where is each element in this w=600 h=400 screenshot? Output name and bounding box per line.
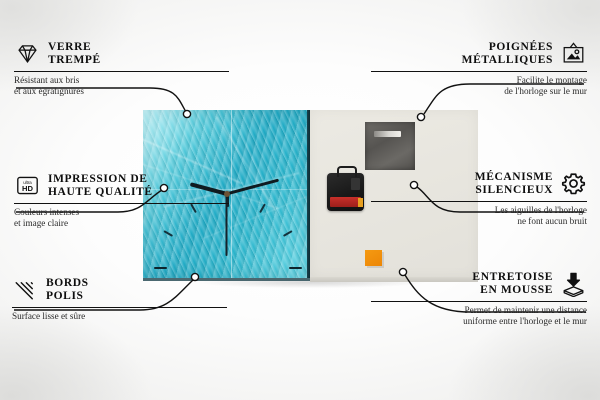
metal-hanger-plate — [365, 122, 415, 170]
feature-description: Facilite le montage de l'horloge sur le … — [371, 75, 587, 97]
feature-divider — [371, 301, 587, 302]
feature-header: VERRE TREMPÉ — [14, 40, 229, 67]
gear-icon — [560, 170, 587, 197]
feature-description: Surface lisse et sûre — [12, 311, 227, 322]
battery — [330, 197, 361, 207]
feature-divider — [371, 71, 587, 72]
feature-title: IMPRESSION DE HAUTE QUALITÉ — [48, 173, 153, 198]
svg-text:HD: HD — [22, 184, 33, 193]
infographic-canvas: VERRE TREMPÉ Résistant aux bris et aux é… — [0, 0, 600, 400]
feature-mecanisme-silencieux: MÉCANISME SILENCIEUX Les aiguilles de l'… — [371, 170, 587, 227]
feature-title: POIGNÉES MÉTALLIQUES — [462, 41, 553, 66]
feature-description: Résistant aux bris et aux égratignures — [14, 75, 229, 97]
battery-terminal — [358, 198, 363, 207]
feature-description: Permet de maintenir une distance uniform… — [371, 305, 587, 327]
mechanism-hook — [337, 166, 357, 177]
feature-header: ultra HD IMPRESSION DE HAUTE QUALITÉ — [14, 172, 229, 199]
polished-edge-icon — [12, 276, 39, 303]
feature-verre-trempe: VERRE TREMPÉ Résistant aux bris et aux é… — [14, 40, 229, 97]
feature-title: MÉCANISME SILENCIEUX — [475, 171, 553, 196]
feature-poignees-metalliques: POIGNÉES MÉTALLIQUES Facilite le montage… — [371, 40, 587, 97]
feature-bords-polis: BORDS POLIS Surface lisse et sûre — [12, 276, 227, 322]
feature-description: Les aiguilles de l'horloge ne font aucun… — [371, 205, 587, 227]
mechanism-detail — [351, 178, 360, 190]
feature-entretoise-en-mousse: ENTRETOISE EN MOUSSE Permet de maintenir… — [371, 270, 587, 327]
feature-title: ENTRETOISE EN MOUSSE — [472, 271, 553, 296]
feature-header: MÉCANISME SILENCIEUX — [371, 170, 587, 197]
ultra-hd-badge-icon: ultra HD — [14, 172, 41, 199]
feature-title: BORDS POLIS — [46, 277, 89, 302]
feature-impression-haute-qualite: ultra HD IMPRESSION DE HAUTE QUALITÉ Cou… — [14, 172, 229, 229]
feature-header: ENTRETOISE EN MOUSSE — [371, 270, 587, 297]
feature-description: Couleurs intenses et image claire — [14, 207, 229, 229]
feature-divider — [12, 307, 227, 308]
picture-hanger-icon — [560, 40, 587, 67]
diamond-icon — [14, 40, 41, 67]
feature-divider — [14, 203, 229, 204]
clock-hand-minute — [226, 179, 279, 196]
feature-header: POIGNÉES MÉTALLIQUES — [371, 40, 587, 67]
hanger-slot — [374, 131, 401, 137]
foam-spacer-part — [365, 250, 382, 266]
feature-title: VERRE TREMPÉ — [48, 41, 101, 66]
feature-divider — [14, 71, 229, 72]
feature-header: BORDS POLIS — [12, 276, 227, 303]
clock-mechanism-box — [327, 173, 364, 211]
feature-divider — [371, 201, 587, 202]
foam-spacer-icon — [560, 270, 587, 297]
